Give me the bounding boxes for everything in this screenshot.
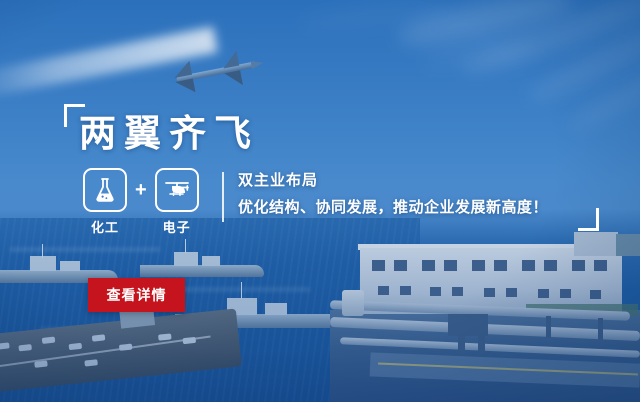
plus-symbol: + bbox=[135, 168, 147, 212]
pillar-label: 电子 bbox=[163, 217, 191, 236]
hero-banner: 两翼齐飞 化工 + bbox=[0, 0, 640, 402]
subtitle-secondary: 优化结构、协同发展，推动企业发展新高度！ bbox=[238, 196, 548, 220]
vertical-divider bbox=[222, 172, 224, 222]
bracket-bottom-right-decoration bbox=[578, 208, 599, 231]
subtitle-block: 双主业布局 优化结构、协同发展，推动企业发展新高度！ bbox=[238, 170, 548, 220]
pillar-icon-group: 化工 + 电子 bbox=[82, 168, 200, 236]
pillar-label: 化工 bbox=[91, 217, 119, 236]
page-title: 两翼齐飞 bbox=[79, 112, 259, 156]
subtitle-primary: 双主业布局 bbox=[238, 170, 548, 192]
banner-content: 两翼齐飞 化工 + bbox=[0, 0, 640, 402]
pillar-chemical[interactable]: 化工 bbox=[82, 168, 128, 236]
flask-icon bbox=[83, 168, 127, 212]
helicopter-icon bbox=[155, 168, 199, 212]
pillar-electronics[interactable]: 电子 bbox=[154, 168, 200, 236]
view-details-button[interactable]: 查看详情 bbox=[88, 278, 185, 312]
